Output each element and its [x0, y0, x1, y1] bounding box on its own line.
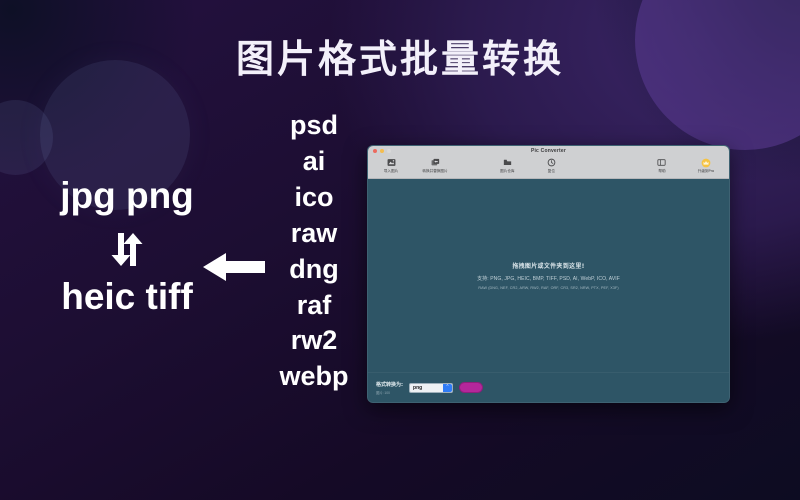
left-arrow-icon: [203, 250, 265, 284]
convert-button[interactable]: [459, 382, 483, 393]
source-format-row-top: jpg png: [32, 175, 222, 218]
app-window: Pic Converter 导入图片: [367, 145, 730, 403]
replace-image-icon: [431, 157, 440, 168]
drop-zone[interactable]: 拖拽图片或文件夹到这里! 支持: PNG, JPG, HEIC, BMP, TI…: [368, 179, 729, 372]
toolbar-help[interactable]: 帮助: [645, 157, 679, 174]
toolbar-convert-replace[interactable]: 转换并替换图片: [418, 157, 452, 174]
chevron-updown-icon[interactable]: ⌃: [443, 384, 452, 392]
toolbar-group-left: 导入图片 转换并替换图片: [374, 157, 452, 174]
page-title: 图片格式批量转换: [0, 28, 800, 83]
toolbar-convert-replace-label: 转换并替换图片: [422, 169, 447, 174]
upgrade-crown-icon: [701, 157, 711, 168]
format-item-dng: dng: [268, 252, 360, 288]
raw-formats-label: RAW (DNG, NEF, CR2, ARW, RW2, RAF, ORF, …: [478, 286, 618, 290]
format-item-psd: psd: [268, 108, 360, 144]
convert-label-wrap: 格式转换为: 图片: 100: [376, 381, 403, 395]
toolbar-help-label: 帮助: [658, 169, 665, 174]
app-bottom-bar: 格式转换为: 图片: 100 png ⌃: [368, 372, 729, 402]
format-item-webp: webp: [268, 359, 360, 395]
supported-formats-label: 支持: PNG, JPG, HEIC, BMP, TIFF, PSD, AI, …: [477, 275, 620, 282]
toolbar-import-images-label: 导入图片: [384, 169, 398, 174]
format-item-ai: ai: [268, 144, 360, 180]
app-toolbar: 导入图片 转换并替换图片: [368, 156, 729, 179]
target-format-list: psd ai ico raw dng raf rw2 webp: [268, 108, 360, 395]
help-window-icon: [657, 157, 666, 168]
import-image-icon: [387, 157, 396, 168]
format-item-raw: raw: [268, 216, 360, 252]
up-down-arrows-icon: [32, 224, 222, 272]
window-title: Pic Converter: [368, 148, 729, 154]
window-titlebar[interactable]: Pic Converter: [368, 146, 729, 156]
toolbar-image-library-label: 图片仓库: [500, 169, 514, 174]
format-select[interactable]: png ⌃: [409, 383, 453, 393]
reset-clock-icon: [547, 157, 556, 168]
toolbar-group-right: 帮助 升级到Pro: [645, 157, 723, 174]
format-item-raf: raf: [268, 288, 360, 324]
format-item-rw2: rw2: [268, 323, 360, 359]
toolbar-reset-label: 复位: [548, 169, 555, 174]
convert-to-label: 格式转换为:: [376, 381, 403, 388]
toolbar-reset[interactable]: 复位: [534, 157, 568, 174]
source-format-row-bottom: heic tiff: [32, 276, 222, 319]
format-select-value: png: [413, 385, 422, 391]
toolbar-upgrade-pro[interactable]: 升级到Pro: [689, 157, 723, 174]
toolbar-import-images[interactable]: 导入图片: [374, 157, 408, 174]
toolbar-upgrade-pro-label: 升级到Pro: [698, 169, 714, 174]
toolbar-group-center: 图片仓库 复位: [490, 157, 568, 174]
toolbar-image-library[interactable]: 图片仓库: [490, 157, 524, 174]
convert-hint-label: 图片: 100: [376, 390, 403, 395]
source-format-block: jpg png heic tiff: [32, 175, 222, 318]
format-item-ico: ico: [268, 180, 360, 216]
library-folder-icon: [503, 157, 512, 168]
drop-zone-title: 拖拽图片或文件夹到这里!: [512, 261, 584, 270]
